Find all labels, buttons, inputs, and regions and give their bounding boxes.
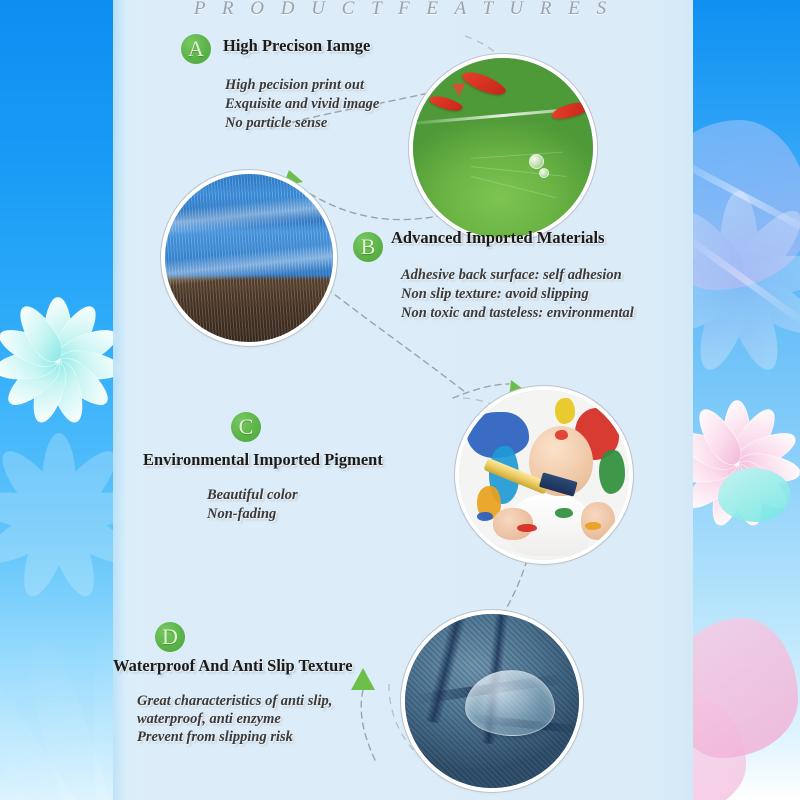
waterproof-surface-image: [405, 614, 579, 788]
radiating-rays-decoration: [0, 600, 126, 800]
feature-badge-c: C: [231, 412, 261, 442]
feature-line: Exquisite and vivid image: [225, 95, 379, 114]
product-features-poster: P R O D U C T F E A T U R E S: [0, 0, 800, 800]
blue-fabric-roll-photo: [165, 174, 333, 342]
feature-line: Adhesive back surface: self adhesion: [401, 266, 634, 285]
lotus-leaf-vein: [471, 152, 563, 159]
connector-d-curve: [361, 690, 375, 760]
feature-line: High pecision print out: [225, 76, 379, 95]
lotus-leaf-vein: [471, 176, 557, 198]
paint-splatter: [599, 450, 625, 494]
koi-fish: [428, 93, 464, 114]
feature-line: Non slip texture: avoid slipping: [401, 285, 634, 304]
paint-splatter: [555, 508, 573, 518]
water-bubble: [539, 168, 549, 178]
water-droplet: [465, 670, 555, 736]
feature-badge-a: A: [181, 34, 211, 64]
painting-baby-photo: [459, 390, 629, 560]
feature-title-a: High Precison Iamge: [223, 36, 370, 56]
feature-line: waterproof, anti enzyme: [137, 710, 332, 728]
feature-badge-d: D: [155, 622, 185, 652]
paint-splatter: [585, 522, 601, 530]
feature-lines-a: High pecision print out Exquisite and vi…: [225, 76, 379, 133]
water-bubble: [529, 154, 544, 169]
paint-splatter: [517, 524, 537, 532]
paint-dot-on-forehead: [555, 430, 568, 440]
feature-lines-b: Adhesive back surface: self adhesion Non…: [401, 266, 634, 323]
feature-line: Non toxic and tasteless: environmental: [401, 304, 634, 323]
koi-fish-tail: [449, 78, 466, 96]
arrow-head-d: [351, 668, 375, 690]
painting-baby-image: [459, 390, 629, 560]
paint-splatter: [477, 512, 493, 521]
page-title: P R O D U C T F E A T U R E S: [113, 0, 693, 20]
cyan-accent-blob: [718, 468, 790, 522]
feature-lines-c: Beautiful color Non-fading: [207, 486, 298, 524]
feature-line: Prevent from slipping risk: [137, 728, 332, 746]
koi-pond-print-photo: [413, 58, 593, 238]
ghost-flower-rosette-left: [0, 432, 126, 602]
water-droplet-texture-photo: [405, 614, 579, 788]
feature-line: Beautiful color: [207, 486, 298, 505]
feature-line: No particle sense: [225, 114, 379, 133]
koi-pond-image: [413, 58, 593, 238]
koi-fish: [460, 67, 508, 99]
feature-line: Great characteristics of anti slip,: [137, 692, 332, 710]
content-panel: P R O D U C T F E A T U R E S: [113, 0, 693, 800]
feature-title-d: Waterproof And Anti Slip Texture: [113, 656, 353, 676]
feature-line: Non-fading: [207, 505, 298, 524]
feature-badge-b: B: [353, 232, 383, 262]
left-decorative-band: [0, 0, 126, 800]
paint-splatter: [555, 398, 575, 424]
cyan-flower-rosette-left: [0, 296, 120, 422]
koi-fish: [550, 99, 592, 121]
lotus-leaf-vein: [471, 166, 567, 177]
feature-title-b: Advanced Imported Materials: [391, 228, 605, 248]
feature-lines-d: Great characteristics of anti slip, wate…: [137, 692, 332, 746]
feature-title-c: Environmental Imported Pigment: [143, 450, 383, 470]
painted-paper: [459, 502, 629, 560]
blue-fabric-image: [165, 174, 333, 342]
